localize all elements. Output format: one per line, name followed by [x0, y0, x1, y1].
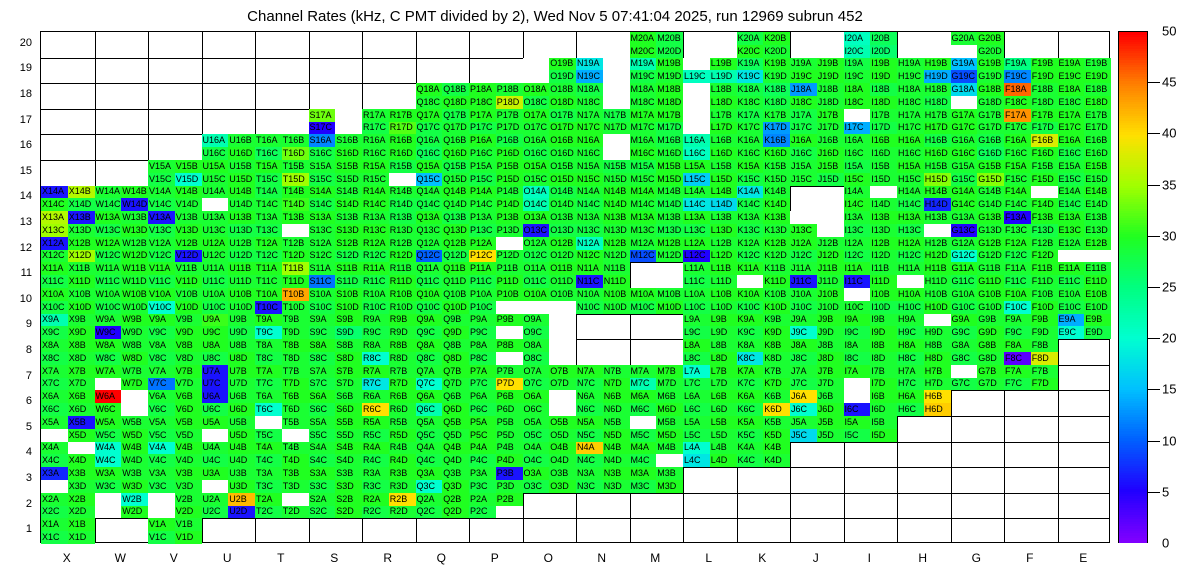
channel-quadrant[interactable]: S8D — [335, 352, 362, 365]
channel-quadrant[interactable]: S16D — [335, 147, 362, 160]
channel-quadrant[interactable]: E12A — [1058, 237, 1085, 250]
channel-quadrant[interactable]: V15B — [175, 160, 202, 173]
channel-cell[interactable]: M3AM3BM3CM3D — [630, 467, 684, 493]
channel-quadrant[interactable]: W9B — [121, 314, 148, 327]
channel-quadrant[interactable]: T16C — [255, 147, 282, 160]
channel-cell[interactable]: X5AX5BX5D — [41, 416, 95, 442]
channel-cell[interactable]: K14AK14BK14CK14D — [737, 186, 791, 212]
channel-quadrant[interactable]: Q4D — [442, 454, 469, 467]
channel-quadrant[interactable]: F18D — [1031, 96, 1058, 109]
channel-quadrant[interactable]: Q14D — [442, 198, 469, 211]
channel-quadrant[interactable]: K5B — [763, 416, 790, 429]
channel-quadrant[interactable]: O10B — [549, 288, 576, 301]
channel-quadrant[interactable]: K15D — [763, 173, 790, 186]
channel-cell[interactable]: H12AH12BH12CH12D — [897, 237, 951, 263]
channel-quadrant[interactable]: L8B — [710, 339, 737, 352]
channel-quadrant[interactable]: F7B — [1031, 365, 1058, 378]
channel-quadrant[interactable]: W5D — [121, 429, 148, 442]
channel-quadrant[interactable]: F9B — [1031, 314, 1058, 327]
channel-quadrant[interactable]: J8D — [817, 352, 844, 365]
channel-cell[interactable]: V2BV2D — [148, 493, 202, 519]
channel-quadrant[interactable]: L11A — [683, 262, 710, 275]
channel-quadrant[interactable]: O15C — [523, 173, 550, 186]
channel-quadrant[interactable]: H18B — [924, 83, 951, 96]
channel-quadrant[interactable]: K10A — [737, 288, 764, 301]
channel-quadrant[interactable]: F7C — [1004, 378, 1031, 391]
channel-quadrant[interactable]: Q10C — [416, 301, 443, 314]
channel-quadrant[interactable]: W8C — [95, 352, 122, 365]
channel-quadrant[interactable]: N12D — [603, 250, 630, 263]
channel-cell[interactable]: G11AG11BG11CG11D — [951, 262, 1005, 288]
channel-quadrant[interactable]: I6C — [844, 403, 871, 416]
channel-quadrant[interactable] — [202, 429, 229, 442]
channel-quadrant[interactable]: H7C — [897, 378, 924, 391]
channel-quadrant[interactable]: O8C — [523, 352, 550, 365]
channel-cell[interactable]: M6AM6BM6CM6D — [630, 390, 684, 416]
channel-quadrant[interactable]: L10D — [710, 301, 737, 314]
channel-quadrant[interactable]: T7A — [255, 365, 282, 378]
channel-quadrant[interactable]: K19B — [763, 58, 790, 71]
channel-quadrant[interactable]: V5C — [148, 429, 175, 442]
channel-cell[interactable]: R2AR2BR2CR2D — [362, 493, 416, 519]
channel-quadrant[interactable]: V5D — [175, 429, 202, 442]
channel-quadrant[interactable]: K7C — [737, 378, 764, 391]
channel-quadrant[interactable]: P16D — [496, 147, 523, 160]
channel-quadrant[interactable]: U11D — [228, 275, 255, 288]
channel-quadrant[interactable]: M7D — [656, 378, 683, 391]
channel-quadrant[interactable]: L4B — [710, 442, 737, 455]
channel-cell[interactable]: N14AN14BN14CN14D — [576, 186, 630, 212]
channel-quadrant[interactable]: R6B — [389, 390, 416, 403]
channel-quadrant[interactable]: V5A — [148, 416, 175, 429]
channel-cell[interactable]: J7AJ7BJ7CJ7D — [790, 365, 844, 391]
channel-quadrant[interactable]: W7A — [95, 365, 122, 378]
channel-quadrant[interactable]: L5D — [710, 429, 737, 442]
channel-quadrant[interactable]: U10B — [228, 288, 255, 301]
channel-quadrant[interactable]: J12D — [817, 250, 844, 263]
channel-cell[interactable]: L16AL16BL16CL16D — [683, 134, 737, 160]
channel-quadrant[interactable]: S4A — [309, 442, 336, 455]
channel-quadrant[interactable]: E19B — [1084, 58, 1111, 71]
channel-quadrant[interactable]: S8A — [309, 339, 336, 352]
channel-quadrant[interactable]: X11B — [68, 262, 95, 275]
channel-quadrant[interactable]: I18B — [870, 83, 897, 96]
channel-quadrant[interactable]: O5B — [549, 416, 576, 429]
channel-quadrant[interactable]: P16B — [496, 134, 523, 147]
channel-quadrant[interactable]: T8C — [255, 352, 282, 365]
channel-cell[interactable]: W4AW4BW4CW4D — [95, 442, 149, 468]
channel-quadrant[interactable]: J19A — [790, 58, 817, 71]
channel-quadrant[interactable]: Q3A — [416, 467, 443, 480]
channel-quadrant[interactable]: K12A — [737, 237, 764, 250]
channel-quadrant[interactable]: H17D — [924, 122, 951, 135]
channel-quadrant[interactable]: J7A — [790, 365, 817, 378]
channel-quadrant[interactable]: U5B — [228, 416, 255, 429]
channel-quadrant[interactable]: N17B — [603, 109, 630, 122]
channel-cell[interactable]: U9AU9BU9CU9D — [202, 314, 256, 340]
channel-quadrant[interactable]: N10C — [576, 301, 603, 314]
channel-cell[interactable]: Q9AQ9BQ9CQ9D — [416, 314, 470, 340]
channel-quadrant[interactable]: P7B — [496, 365, 523, 378]
channel-quadrant[interactable]: V1A — [148, 518, 175, 531]
channel-quadrant[interactable]: W14B — [121, 186, 148, 199]
channel-cell[interactable]: W12AW12BW12CW12D — [95, 237, 149, 263]
channel-quadrant[interactable]: L12A — [683, 237, 710, 250]
channel-quadrant[interactable]: S6B — [335, 390, 362, 403]
channel-quadrant[interactable]: N10B — [603, 288, 630, 301]
channel-cell[interactable]: N11AN11BN11CN11D — [576, 262, 630, 288]
channel-quadrant[interactable]: L14C — [683, 198, 710, 211]
channel-cell[interactable]: I13AI13BI13CI13D — [844, 211, 898, 237]
channel-quadrant[interactable]: J10D — [817, 301, 844, 314]
channel-cell[interactable]: I11AI11BI11CI11D — [844, 262, 898, 288]
channel-quadrant[interactable] — [496, 506, 523, 519]
channel-quadrant[interactable]: M10A — [630, 288, 657, 301]
channel-quadrant[interactable]: Q12B — [442, 237, 469, 250]
channel-quadrant[interactable]: X7D — [68, 378, 95, 391]
channel-quadrant[interactable]: U2A — [202, 493, 229, 506]
channel-quadrant[interactable]: R16A — [362, 134, 389, 147]
channel-quadrant[interactable]: I16D — [870, 147, 897, 160]
channel-quadrant[interactable]: G11B — [977, 262, 1004, 275]
channel-cell[interactable]: M10AM10BM10CM10D — [630, 288, 684, 314]
channel-quadrant[interactable]: G9D — [977, 326, 1004, 339]
channel-quadrant[interactable]: X10A — [41, 288, 68, 301]
channel-cell[interactable]: U4AU4BU4CU4D — [202, 442, 256, 468]
channel-quadrant[interactable]: N13A — [576, 211, 603, 224]
channel-quadrant[interactable]: Q12C — [416, 250, 443, 263]
channel-quadrant[interactable]: P18D — [496, 96, 523, 109]
channel-quadrant[interactable]: U15B — [228, 160, 255, 173]
channel-cell[interactable]: S16AS16BS16CS16D — [309, 134, 363, 160]
channel-quadrant[interactable]: E13B — [1084, 211, 1111, 224]
channel-cell[interactable]: T10AT10BT10CT10D — [255, 288, 309, 314]
channel-cell[interactable]: V14AV14BV14CV14D — [148, 186, 202, 212]
channel-quadrant[interactable] — [41, 429, 68, 442]
channel-quadrant[interactable]: T3D — [282, 480, 309, 493]
channel-cell[interactable]: L17BL17D — [683, 109, 737, 135]
channel-cell[interactable]: N15AN15BN15CN15D — [576, 160, 630, 186]
channel-quadrant[interactable]: X6A — [41, 390, 68, 403]
channel-quadrant[interactable]: O3B — [549, 467, 576, 480]
channel-cell[interactable]: E11AE11BE11CE11D — [1058, 262, 1112, 288]
channel-quadrant[interactable]: F12C — [1004, 250, 1031, 263]
channel-cell[interactable]: F18AF18BF18CF18D — [1004, 83, 1058, 109]
channel-quadrant[interactable]: H16C — [897, 147, 924, 160]
channel-quadrant[interactable]: T8B — [282, 339, 309, 352]
channel-quadrant[interactable]: S2A — [309, 493, 336, 506]
channel-quadrant[interactable]: P5A — [469, 416, 496, 429]
channel-quadrant[interactable]: Q11C — [416, 275, 443, 288]
channel-quadrant[interactable]: H14C — [897, 198, 924, 211]
channel-cell[interactable]: V15AV15BV15CV15D — [148, 160, 202, 186]
channel-quadrant[interactable]: T12A — [255, 237, 282, 250]
channel-quadrant[interactable]: K10D — [763, 301, 790, 314]
channel-quadrant[interactable]: W10B — [121, 288, 148, 301]
channel-quadrant[interactable]: R10D — [389, 301, 416, 314]
channel-quadrant[interactable]: L7B — [710, 365, 737, 378]
channel-quadrant[interactable]: Q15B — [442, 160, 469, 173]
channel-quadrant[interactable]: V8C — [148, 352, 175, 365]
channel-cell[interactable]: F16AF16BF16CF16D — [1004, 134, 1058, 160]
channel-quadrant[interactable]: O14D — [549, 198, 576, 211]
channel-quadrant[interactable]: S3A — [309, 467, 336, 480]
channel-quadrant[interactable]: K8B — [763, 339, 790, 352]
channel-quadrant[interactable]: V4D — [175, 454, 202, 467]
channel-cell[interactable]: O8AO8C — [523, 339, 577, 365]
channel-cell[interactable]: Q12AQ12BQ12CQ12D — [416, 237, 470, 263]
channel-quadrant[interactable]: Q6C — [416, 403, 443, 416]
channel-quadrant[interactable]: X11C — [41, 275, 68, 288]
channel-quadrant[interactable] — [121, 390, 148, 403]
channel-quadrant[interactable]: Q13A — [416, 211, 443, 224]
channel-quadrant[interactable]: G20B — [977, 32, 1004, 45]
channel-quadrant[interactable]: G8D — [977, 352, 1004, 365]
channel-quadrant[interactable]: R15C — [362, 173, 389, 186]
channel-quadrant[interactable]: G13C — [951, 224, 978, 237]
channel-quadrant[interactable]: E15B — [1084, 160, 1111, 173]
channel-quadrant[interactable]: Q10B — [442, 288, 469, 301]
channel-quadrant[interactable]: H9C — [897, 326, 924, 339]
channel-quadrant[interactable]: I11D — [870, 275, 897, 288]
channel-quadrant[interactable]: F13B — [1031, 211, 1058, 224]
channel-cell[interactable]: K15AK15BK15CK15D — [737, 160, 791, 186]
channel-quadrant[interactable]: S6C — [309, 403, 336, 416]
channel-quadrant[interactable]: M20B — [656, 32, 683, 45]
channel-quadrant[interactable]: X7C — [41, 378, 68, 391]
channel-quadrant[interactable]: N10D — [603, 301, 630, 314]
channel-quadrant[interactable]: P18C — [469, 96, 496, 109]
channel-cell[interactable]: O11AO11BO11CO11D — [523, 262, 577, 288]
channel-cell[interactable]: R4AR4BR4CR4D — [362, 442, 416, 468]
channel-quadrant[interactable]: M14B — [656, 186, 683, 199]
channel-quadrant[interactable]: T7B — [282, 365, 309, 378]
channel-quadrant[interactable]: T11C — [255, 275, 282, 288]
channel-quadrant[interactable]: V13D — [175, 224, 202, 237]
channel-quadrant[interactable]: M4A — [630, 442, 657, 455]
channel-quadrant[interactable]: H8C — [897, 352, 924, 365]
channel-quadrant[interactable]: L6A — [683, 390, 710, 403]
channel-cell[interactable]: M12AM12BM12CM12D — [630, 237, 684, 263]
channel-quadrant[interactable]: W4A — [95, 442, 122, 455]
channel-cell[interactable]: G17AG17BG17CG17D — [951, 109, 1005, 135]
channel-quadrant[interactable]: G7D — [977, 378, 1004, 391]
channel-quadrant[interactable]: E14A — [1058, 186, 1085, 199]
channel-quadrant[interactable]: L7A — [683, 365, 710, 378]
channel-quadrant[interactable]: O4D — [549, 454, 576, 467]
channel-quadrant[interactable]: S8C — [309, 352, 336, 365]
channel-quadrant[interactable]: P16A — [469, 134, 496, 147]
channel-quadrant[interactable]: J16B — [817, 134, 844, 147]
channel-quadrant[interactable]: S5B — [335, 416, 362, 429]
channel-quadrant[interactable]: X9A — [41, 314, 68, 327]
channel-quadrant[interactable]: P9B — [496, 314, 523, 327]
channel-quadrant[interactable]: Q2D — [442, 506, 469, 519]
channel-cell[interactable]: S17AS17C — [309, 109, 363, 135]
channel-quadrant[interactable]: X5D — [68, 429, 95, 442]
channel-quadrant[interactable]: S14C — [309, 198, 336, 211]
channel-quadrant[interactable]: I12B — [870, 237, 897, 250]
channel-cell[interactable]: X9AX9BX9CX9D — [41, 314, 95, 340]
channel-quadrant[interactable]: O18D — [549, 96, 576, 109]
channel-quadrant[interactable]: U4D — [228, 454, 255, 467]
channel-cell[interactable]: X12AX12BX12CX12D — [41, 237, 95, 263]
channel-quadrant[interactable]: F14C — [1004, 198, 1031, 211]
channel-cell[interactable]: R7AR7BR7CR7D — [362, 365, 416, 391]
channel-quadrant[interactable]: T9D — [282, 326, 309, 339]
channel-quadrant[interactable]: G14B — [977, 186, 1004, 199]
channel-quadrant[interactable]: N7B — [603, 365, 630, 378]
channel-quadrant[interactable] — [523, 301, 550, 314]
channel-cell[interactable]: M15AM15BM15CM15D — [630, 160, 684, 186]
channel-cell[interactable]: E13AE13BE13CE13D — [1058, 211, 1112, 237]
channel-cell[interactable]: P2AP2BP2C — [469, 493, 523, 519]
channel-quadrant[interactable]: N4A — [576, 442, 603, 455]
channel-cell[interactable]: F12AF12BF12CF12D — [1004, 237, 1058, 263]
channel-quadrant[interactable]: F17C — [1004, 122, 1031, 135]
channel-quadrant[interactable]: R6A — [362, 390, 389, 403]
channel-quadrant[interactable]: K5A — [737, 416, 764, 429]
channel-quadrant[interactable]: P13D — [496, 224, 523, 237]
channel-quadrant[interactable]: L12C — [683, 250, 710, 263]
channel-quadrant[interactable]: I6D — [870, 403, 897, 416]
channel-quadrant[interactable]: M7C — [630, 378, 657, 391]
channel-cell[interactable]: O13AO13BO13CO13D — [523, 211, 577, 237]
channel-quadrant[interactable]: W14C — [95, 198, 122, 211]
channel-quadrant[interactable]: M13B — [656, 211, 683, 224]
channel-quadrant[interactable]: G15C — [951, 173, 978, 186]
channel-quadrant[interactable]: U14A — [202, 186, 229, 199]
channel-quadrant[interactable]: G15D — [977, 173, 1004, 186]
channel-quadrant[interactable]: Q2C — [416, 506, 443, 519]
channel-quadrant[interactable] — [844, 288, 871, 301]
channel-quadrant[interactable]: N14A — [576, 186, 603, 199]
channel-quadrant[interactable] — [790, 211, 817, 224]
channel-cell[interactable]: K12AK12BK12CK12D — [737, 237, 791, 263]
channel-quadrant[interactable]: P9A — [469, 314, 496, 327]
channel-quadrant[interactable]: I19A — [844, 58, 871, 71]
channel-cell[interactable]: O6AO6C — [523, 390, 577, 416]
channel-quadrant[interactable] — [148, 493, 175, 506]
channel-quadrant[interactable]: W7D — [121, 378, 148, 391]
channel-quadrant[interactable]: G16B — [977, 134, 1004, 147]
channel-quadrant[interactable]: I19D — [870, 70, 897, 83]
channel-quadrant[interactable]: Q6A — [416, 390, 443, 403]
channel-quadrant[interactable]: U10C — [202, 301, 229, 314]
channel-quadrant[interactable]: W8D — [121, 352, 148, 365]
channel-quadrant[interactable]: H12A — [897, 237, 924, 250]
channel-quadrant[interactable]: S10C — [309, 301, 336, 314]
channel-quadrant[interactable]: S3B — [335, 467, 362, 480]
channel-cell[interactable]: S10AS10BS10CS10D — [309, 288, 363, 314]
channel-quadrant[interactable]: E9A — [1058, 314, 1085, 327]
channel-quadrant[interactable]: S11D — [335, 275, 362, 288]
channel-quadrant[interactable]: V2B — [175, 493, 202, 506]
channel-quadrant[interactable]: H17B — [924, 109, 951, 122]
channel-cell[interactable]: G13AG13BG13CG13D — [951, 211, 1005, 237]
channel-cell[interactable]: E17AE17BE17CE17D — [1058, 109, 1112, 135]
channel-cell[interactable]: O7AO7BO7CO7D — [523, 365, 577, 391]
channel-cell[interactable]: V4AV4BV4CV4D — [148, 442, 202, 468]
channel-quadrant[interactable]: X6D — [68, 403, 95, 416]
channel-cell[interactable]: F14AF14CF14D — [1004, 186, 1058, 212]
channel-quadrant[interactable]: Q16C — [416, 147, 443, 160]
channel-quadrant[interactable]: X14C — [41, 198, 68, 211]
channel-cell[interactable]: J6AJ6BJ6CJ6D — [790, 390, 844, 416]
channel-cell[interactable]: I9AI9BI9CI9D — [844, 314, 898, 340]
channel-quadrant[interactable]: R9B — [389, 314, 416, 327]
channel-quadrant[interactable]: J19D — [817, 70, 844, 83]
channel-quadrant[interactable]: G15B — [977, 160, 1004, 173]
channel-quadrant[interactable]: T4C — [255, 454, 282, 467]
channel-quadrant[interactable]: Q8B — [442, 339, 469, 352]
channel-quadrant[interactable]: T5C — [255, 429, 282, 442]
channel-cell[interactable]: T4AT4BT4CT4D — [255, 442, 309, 468]
channel-quadrant[interactable]: S16A — [309, 134, 336, 147]
channel-quadrant[interactable]: S6D — [335, 403, 362, 416]
channel-quadrant[interactable]: F17D — [1031, 122, 1058, 135]
channel-quadrant[interactable]: I18C — [844, 96, 871, 109]
channel-quadrant[interactable]: L7C — [683, 378, 710, 391]
channel-cell[interactable]: I19AI19BI19CI19D — [844, 58, 898, 84]
channel-quadrant[interactable]: V15C — [148, 173, 175, 186]
channel-quadrant[interactable]: L12B — [710, 237, 737, 250]
channel-quadrant[interactable]: K4C — [737, 454, 764, 467]
channel-cell[interactable]: X14AX14BX14CX14D — [41, 186, 95, 212]
channel-quadrant[interactable]: U4B — [228, 442, 255, 455]
channel-quadrant[interactable]: I20A — [844, 32, 871, 45]
channel-quadrant[interactable]: N6A — [576, 390, 603, 403]
channel-quadrant[interactable]: I10B — [870, 288, 897, 301]
channel-quadrant[interactable]: U8C — [202, 352, 229, 365]
channel-cell[interactable]: H6AH6BH6CH6D — [897, 390, 951, 416]
channel-cell[interactable]: W9AW9BW9CW9D — [95, 314, 149, 340]
channel-cell[interactable]: T5BT5C — [255, 416, 309, 442]
channel-quadrant[interactable]: O12C — [523, 250, 550, 263]
channel-quadrant[interactable]: J13C — [790, 224, 817, 237]
channel-quadrant[interactable]: S12A — [309, 237, 336, 250]
channel-quadrant[interactable]: P8A — [469, 339, 496, 352]
channel-quadrant[interactable] — [683, 122, 710, 135]
channel-quadrant[interactable]: T14B — [282, 186, 309, 199]
channel-cell[interactable]: Q2AQ2BQ2CQ2D — [416, 493, 470, 519]
channel-quadrant[interactable]: L11C — [683, 275, 710, 288]
channel-quadrant[interactable] — [549, 301, 576, 314]
channel-quadrant[interactable]: N5B — [603, 416, 630, 429]
channel-quadrant[interactable]: Q9D — [442, 326, 469, 339]
channel-quadrant[interactable]: O18A — [523, 83, 550, 96]
channel-quadrant[interactable]: X1B — [68, 518, 95, 531]
channel-cell[interactable]: R8AR8BR8CR8D — [362, 339, 416, 365]
channel-quadrant[interactable] — [897, 275, 924, 288]
channel-quadrant[interactable]: M18A — [630, 83, 657, 96]
channel-quadrant[interactable]: X13D — [68, 224, 95, 237]
channel-quadrant[interactable] — [68, 442, 95, 455]
channel-quadrant[interactable]: X10C — [41, 301, 68, 314]
channel-quadrant[interactable]: F9A — [1004, 314, 1031, 327]
channel-quadrant[interactable] — [844, 378, 871, 391]
channel-quadrant[interactable]: S15A — [309, 160, 336, 173]
channel-quadrant[interactable]: L11D — [710, 275, 737, 288]
channel-quadrant[interactable] — [817, 211, 844, 224]
channel-quadrant[interactable]: U16B — [228, 134, 255, 147]
channel-quadrant[interactable]: P15A — [469, 160, 496, 173]
channel-cell[interactable]: O14AO14BO14CO14D — [523, 186, 577, 212]
channel-quadrant[interactable]: F9C — [1004, 326, 1031, 339]
channel-quadrant[interactable]: T2D — [282, 506, 309, 519]
channel-quadrant[interactable]: E13A — [1058, 211, 1085, 224]
channel-cell[interactable]: H17AH17BH17CH17D — [897, 109, 951, 135]
